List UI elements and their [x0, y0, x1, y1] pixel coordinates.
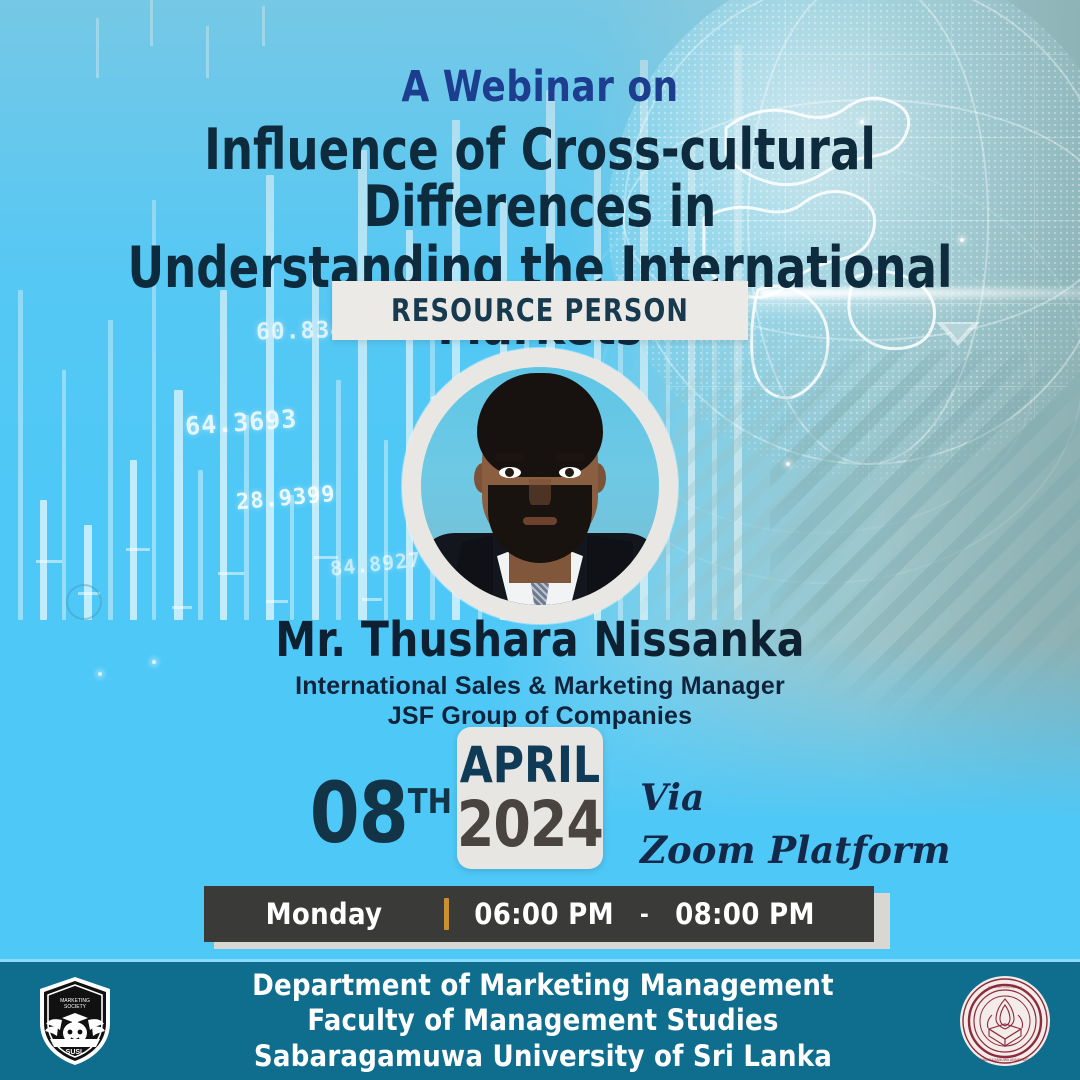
platform-via-label: Via — [640, 772, 970, 824]
event-year: 2024 — [457, 793, 603, 856]
footer-line-1: Department of Marketing Management — [156, 968, 930, 1003]
footer-line-2: Faculty of Management Studies — [156, 1003, 930, 1038]
time-separator: - — [640, 900, 649, 928]
speaker-photo — [421, 367, 659, 605]
month-year-card: APRIL 2024 — [457, 727, 603, 869]
platform-info: Via Zoom Platform — [640, 772, 970, 878]
event-start-time: 06:00 PM — [474, 897, 614, 931]
footer-line-3: Sabaragamuwa University of Sri Lanka — [156, 1039, 930, 1074]
headline-line-1: Influence of Cross-cultural Differences … — [65, 122, 1015, 236]
sabaragamuwa-university-seal-icon: සබරගමුව විශ්වවිද්‍යාලය SABARAGAMUWA UNIV… — [930, 975, 1080, 1067]
svg-text:SABARAGAMUWA UNIVERSITY: SABARAGAMUWA UNIVERSITY — [980, 1058, 1031, 1062]
svg-text:SOCIETY: SOCIETY — [64, 1004, 87, 1010]
event-month: APRIL — [460, 740, 600, 790]
svg-text:සබරගමුව විශ්වවිද්‍යාලය: සබරගමුව විශ්වවිද්‍යාලය — [988, 985, 1023, 989]
event-weekday: Monday — [204, 897, 444, 931]
footer-bar: MARKETING SOCIETY SUSL Department of Mar… — [0, 962, 1080, 1080]
spark-dot-5 — [786, 462, 790, 466]
speaker-name: Mr. Thushara Nissanka — [27, 612, 1053, 668]
event-day: 08TH — [310, 776, 452, 852]
webinar-poster: 60.8344 64.3693 28.9399 84.8927 2.6305 — [0, 0, 1080, 1080]
resource-person-badge: RESOURCE PERSON — [332, 281, 748, 340]
event-time-range: 06:00 PM - 08:00 PM — [449, 897, 874, 931]
time-bar: Monday 06:00 PM - 08:00 PM — [204, 886, 874, 942]
speaker-role: International Sales & Marketing Manager — [0, 672, 1080, 701]
svg-text:SUSL: SUSL — [66, 1049, 85, 1056]
resource-person-label: RESOURCE PERSON — [391, 293, 689, 329]
speaker-avatar — [402, 348, 678, 624]
kicker-text: A Webinar on — [38, 62, 1042, 112]
platform-name: Zoom Platform — [640, 824, 970, 878]
marketing-society-shield-logo-icon: MARKETING SOCIETY SUSL — [0, 975, 150, 1067]
event-day-suffix: TH — [408, 782, 452, 822]
event-end-time: 08:00 PM — [675, 897, 815, 931]
speaker-info: Mr. Thushara Nissanka International Sale… — [0, 612, 1080, 731]
footer-affiliation: Department of Marketing Management Facul… — [150, 968, 930, 1074]
event-day-number: 08 — [310, 764, 408, 862]
date-block: 08TH APRIL 2024 Via Zoom Platform — [0, 724, 1080, 884]
